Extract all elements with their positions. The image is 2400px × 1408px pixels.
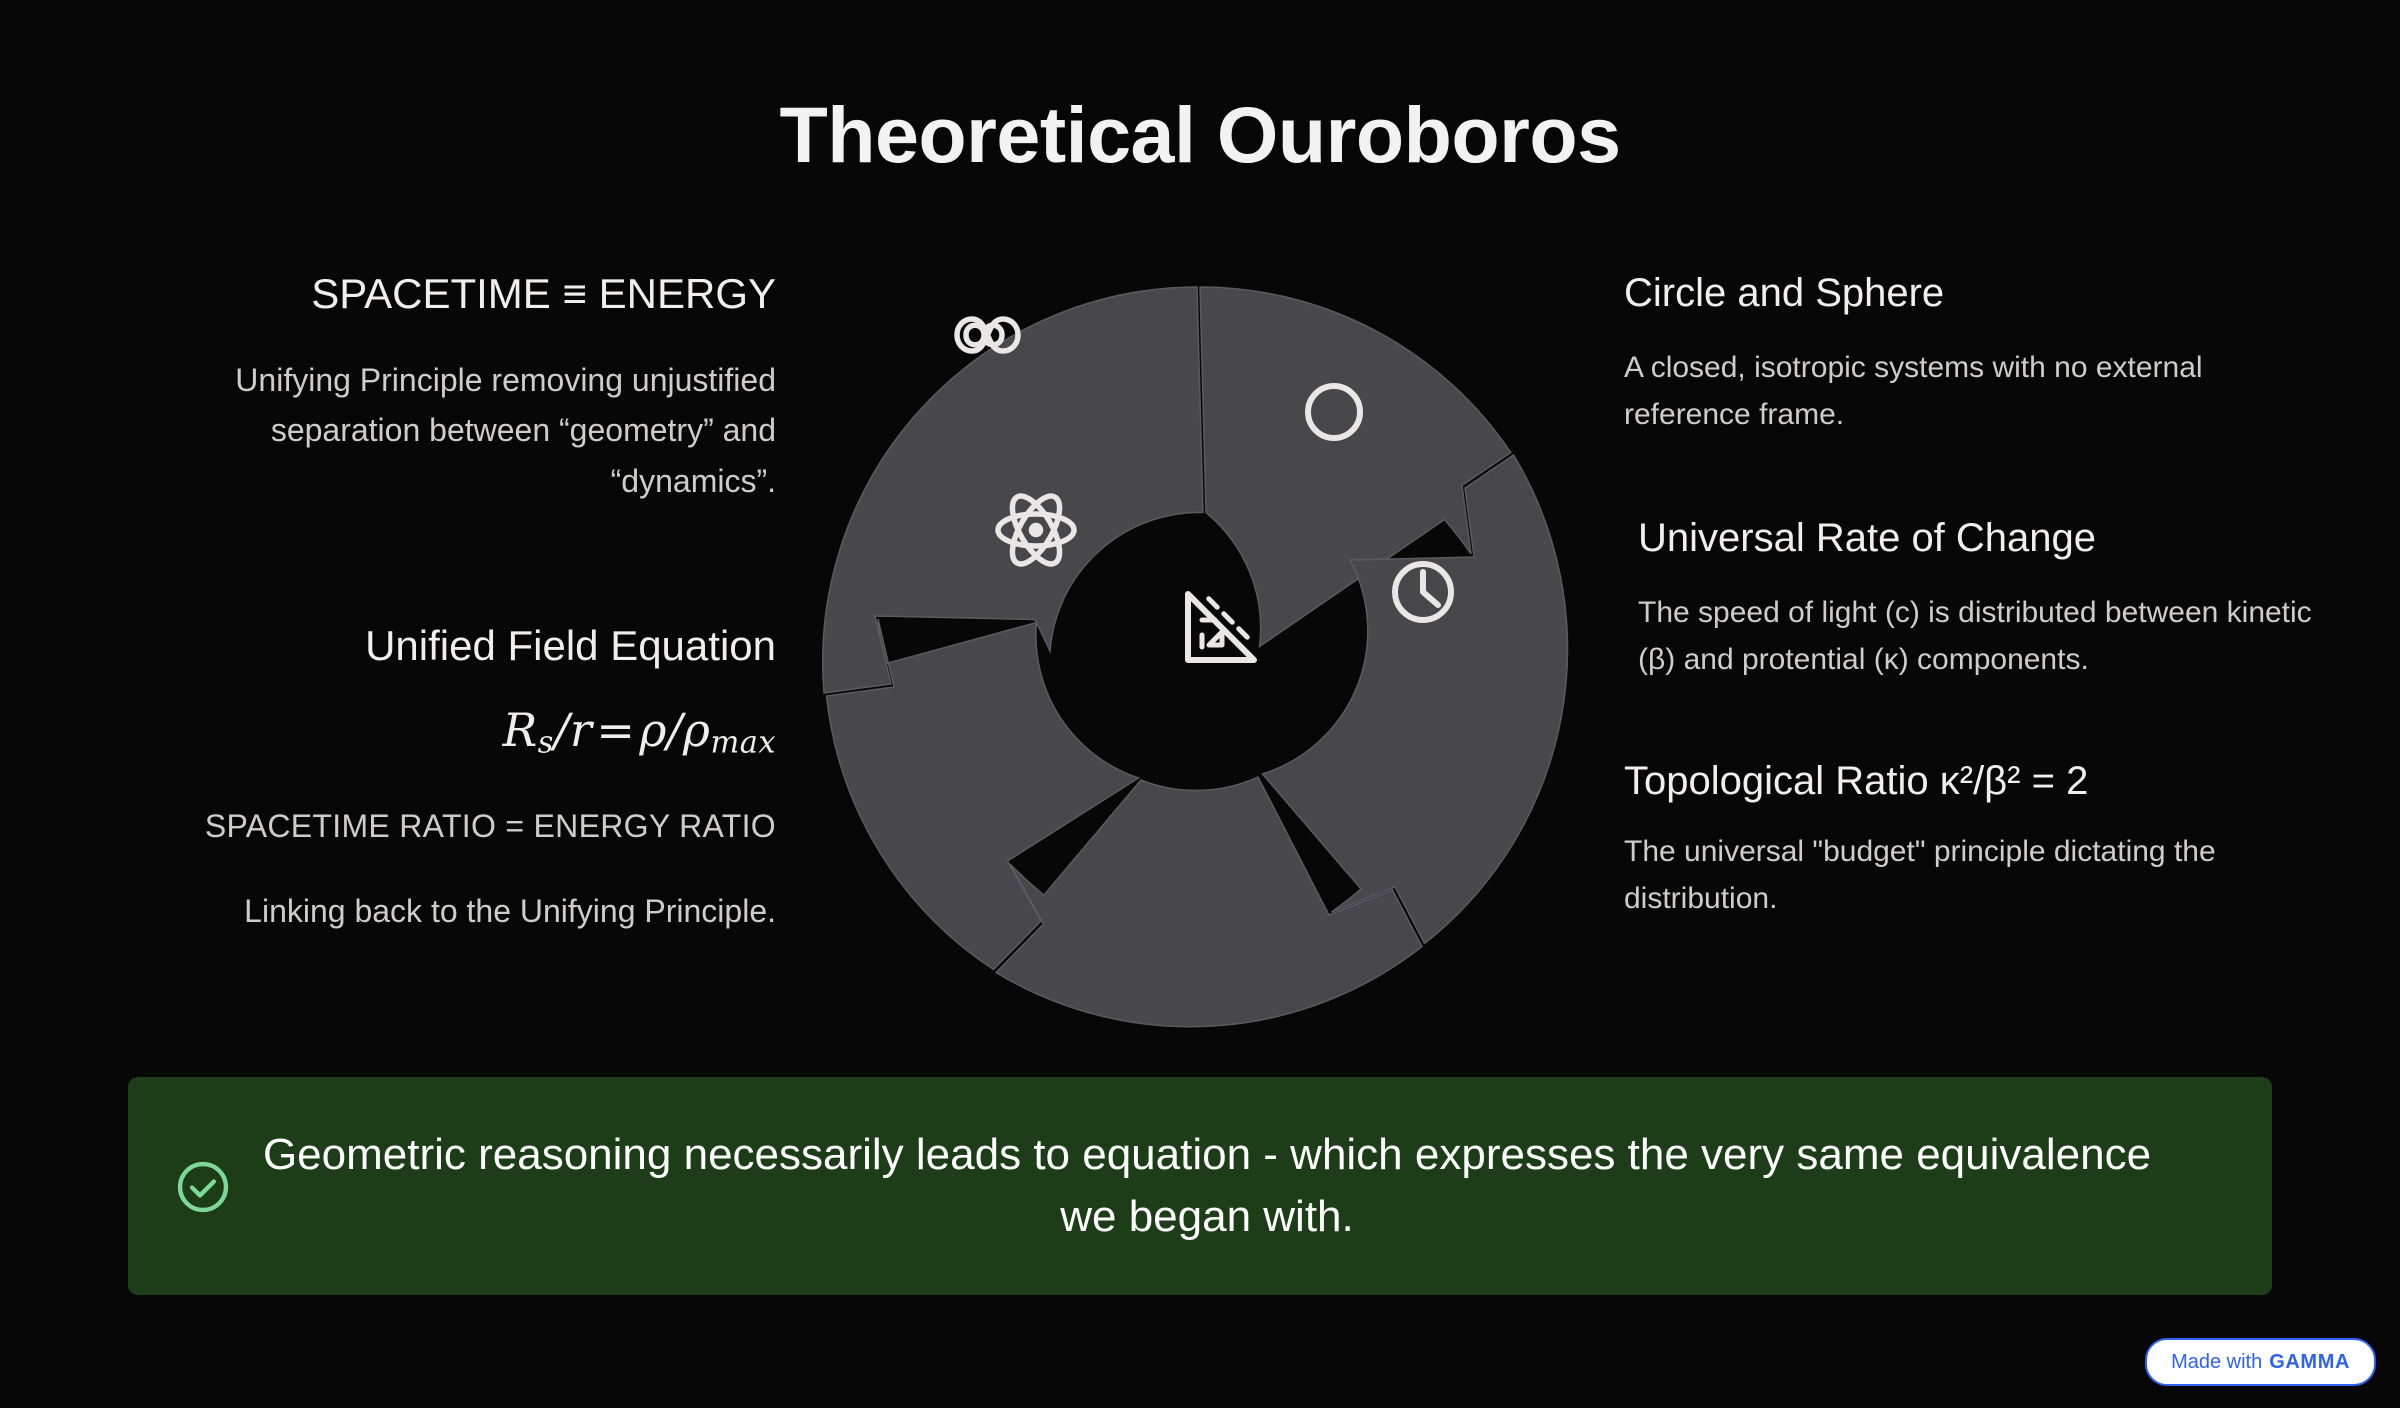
left-block-1-body: Unifying Principle removing unjustified … bbox=[128, 355, 776, 507]
right-block-3-heading: Topological Ratio κ²/β² = 2 bbox=[1624, 756, 2324, 806]
right-block-1-heading: Circle and Sphere bbox=[1624, 268, 2324, 318]
made-with-gamma-badge[interactable]: Made with GAMMA bbox=[2145, 1338, 2376, 1386]
slide-canvas: Theoretical Ouroboros SPACETIME ≡ ENERGY… bbox=[0, 0, 2400, 1408]
equation-operator: = bbox=[592, 703, 639, 757]
equation-rhs-symbol: ρ/ρ bbox=[639, 703, 710, 757]
cycle-donut-diagram bbox=[810, 272, 1590, 1052]
equation-lhs-rest: /r bbox=[554, 703, 593, 757]
right-block-topological-ratio: Topological Ratio κ²/β² = 2 The universa… bbox=[1624, 756, 2324, 923]
equation-lhs-symbol: R bbox=[503, 703, 538, 757]
check-circle-icon bbox=[174, 1158, 232, 1216]
right-block-universal-rate-of-change: Universal Rate of Change The speed of li… bbox=[1624, 513, 2324, 684]
left-block-2-heading: Unified Field Equation bbox=[128, 620, 776, 673]
right-block-1-body: A closed, isotropic systems with no exte… bbox=[1624, 344, 2324, 439]
left-block-unified-field-equation: Unified Field Equation Rs/r=ρ/ρmax SPACE… bbox=[128, 620, 776, 930]
equation-lhs-sub: s bbox=[538, 725, 554, 760]
left-block-spacetime-energy: SPACETIME ≡ ENERGY Unifying Principle re… bbox=[128, 268, 776, 506]
donut-segments bbox=[823, 287, 1568, 1027]
spacetime-ratio-line: SPACETIME RATIO = ENERGY RATIO bbox=[128, 808, 776, 845]
right-block-2-body: The speed of light (c) is distributed be… bbox=[1638, 589, 2324, 684]
badge-made-with-label: Made with bbox=[2171, 1351, 2262, 1374]
badge-gamma-wordmark: GAMMA bbox=[2269, 1351, 2350, 1374]
left-block-1-heading: SPACETIME ≡ ENERGY bbox=[128, 268, 776, 321]
conclusion-text: Geometric reasoning necessarily leads to… bbox=[258, 1124, 2226, 1249]
ruler-triangle-icon bbox=[1188, 594, 1254, 660]
right-block-2-heading: Universal Rate of Change bbox=[1638, 513, 2324, 563]
equation-rhs-sub: max bbox=[710, 725, 776, 760]
unified-field-equation: Rs/r=ρ/ρmax bbox=[128, 703, 776, 761]
right-block-circle-and-sphere: Circle and Sphere A closed, isotropic sy… bbox=[1624, 268, 2324, 439]
page-title: Theoretical Ouroboros bbox=[0, 92, 2400, 179]
right-block-3-body: The universal "budget" principle dictati… bbox=[1624, 828, 2324, 923]
linking-line: Linking back to the Unifying Principle. bbox=[128, 893, 776, 930]
right-column: Circle and Sphere A closed, isotropic sy… bbox=[1624, 268, 2324, 922]
left-column: SPACETIME ≡ ENERGY Unifying Principle re… bbox=[128, 268, 776, 930]
conclusion-banner: Geometric reasoning necessarily leads to… bbox=[128, 1077, 2272, 1295]
